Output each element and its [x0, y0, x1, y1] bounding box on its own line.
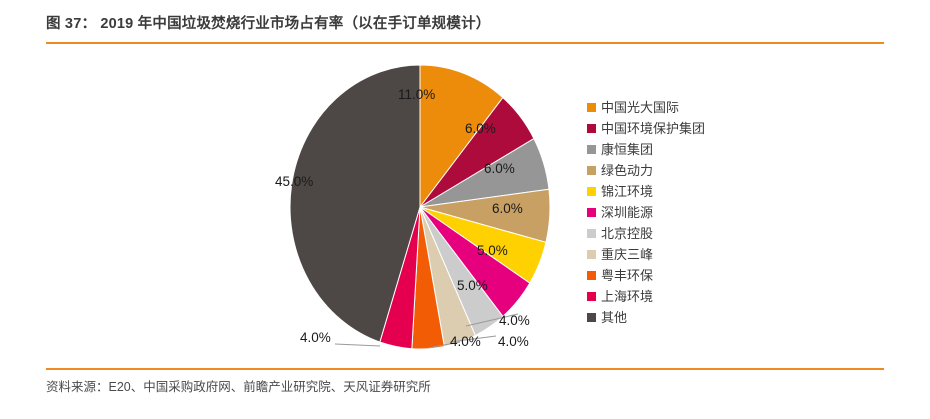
slice-label-dynagreen: 6.0% [492, 202, 523, 216]
legend-item-label: 绿色动力 [601, 164, 653, 178]
legend-swatch-icon [587, 187, 596, 196]
legend-item-label: 上海环境 [601, 290, 653, 304]
legend-swatch-icon [587, 124, 596, 133]
legend: 中国光大国际中国环境保护集团康恒集团绿色动力锦江环境深圳能源北京控股重庆三峰粤丰… [587, 97, 747, 328]
legend-item[interactable]: 锦江环境 [587, 181, 747, 202]
legend-swatch-icon [587, 166, 596, 175]
legend-swatch-icon [587, 145, 596, 154]
pie-chart: 11.0% 6.0% 6.0% 6.0% 5.0% 5.0% 4.0% 4.0%… [46, 48, 884, 366]
slice-label-beijing-holdings: 4.0% [499, 314, 530, 328]
slice-label-shenzhen-energy: 5.0% [457, 279, 488, 293]
footer-divider [46, 368, 884, 370]
legend-item[interactable]: 中国光大国际 [587, 97, 747, 118]
legend-swatch-icon [587, 250, 596, 259]
figure-title-text: 图 37： 2019 年中国垃圾焚烧行业市场占有率（以在手订单规模计） [46, 14, 884, 34]
legend-swatch-icon [587, 103, 596, 112]
legend-swatch-icon [587, 271, 596, 280]
legend-item-label: 其他 [601, 311, 627, 325]
slice-label-others: 45.0% [275, 175, 313, 189]
legend-item-label: 锦江环境 [601, 185, 653, 199]
legend-item-label: 北京控股 [601, 227, 653, 241]
legend-item-label: 中国环境保护集团 [601, 122, 705, 136]
legend-item[interactable]: 中国环境保护集团 [587, 118, 747, 139]
legend-swatch-icon [587, 208, 596, 217]
legend-item[interactable]: 康恒集团 [587, 139, 747, 160]
legend-swatch-icon [587, 292, 596, 301]
figure-panel: 图 37： 2019 年中国垃圾焚烧行业市场占有率（以在手订单规模计） 11.0… [0, 0, 930, 419]
legend-item[interactable]: 其他 [587, 307, 747, 328]
source-note: 资料来源：E20、中国采购政府网、前瞻产业研究院、天风证券研究所 [46, 378, 884, 396]
slice-label-kangheng: 6.0% [484, 162, 515, 176]
slice-label-china-everbright: 11.0% [398, 88, 435, 102]
legend-item[interactable]: 北京控股 [587, 223, 747, 244]
legend-item[interactable]: 粤丰环保 [587, 265, 747, 286]
legend-swatch-icon [587, 229, 596, 238]
legend-item[interactable]: 绿色动力 [587, 160, 747, 181]
slice-label-chongqing-sanfeng: 4.0% [450, 335, 481, 349]
legend-item[interactable]: 重庆三峰 [587, 244, 747, 265]
legend-item-label: 中国光大国际 [601, 101, 679, 115]
legend-item-label: 重庆三峰 [601, 248, 653, 262]
slice-label-cecep: 6.0% [465, 122, 496, 136]
title-divider [46, 42, 884, 44]
legend-item-label: 康恒集团 [601, 143, 653, 157]
slice-label-shanghai-environment: 4.0% [300, 331, 331, 345]
legend-item-label: 粤丰环保 [601, 269, 653, 283]
figure-title: 图 37： 2019 年中国垃圾焚烧行业市场占有率（以在手订单规模计） [46, 14, 884, 44]
slice-label-yuefeng: 4.0% [498, 335, 529, 349]
legend-swatch-icon [587, 313, 596, 322]
legend-item[interactable]: 深圳能源 [587, 202, 747, 223]
legend-item-label: 深圳能源 [601, 206, 653, 220]
legend-item[interactable]: 上海环境 [587, 286, 747, 307]
slice-label-jinjiang: 5.0% [477, 244, 508, 258]
